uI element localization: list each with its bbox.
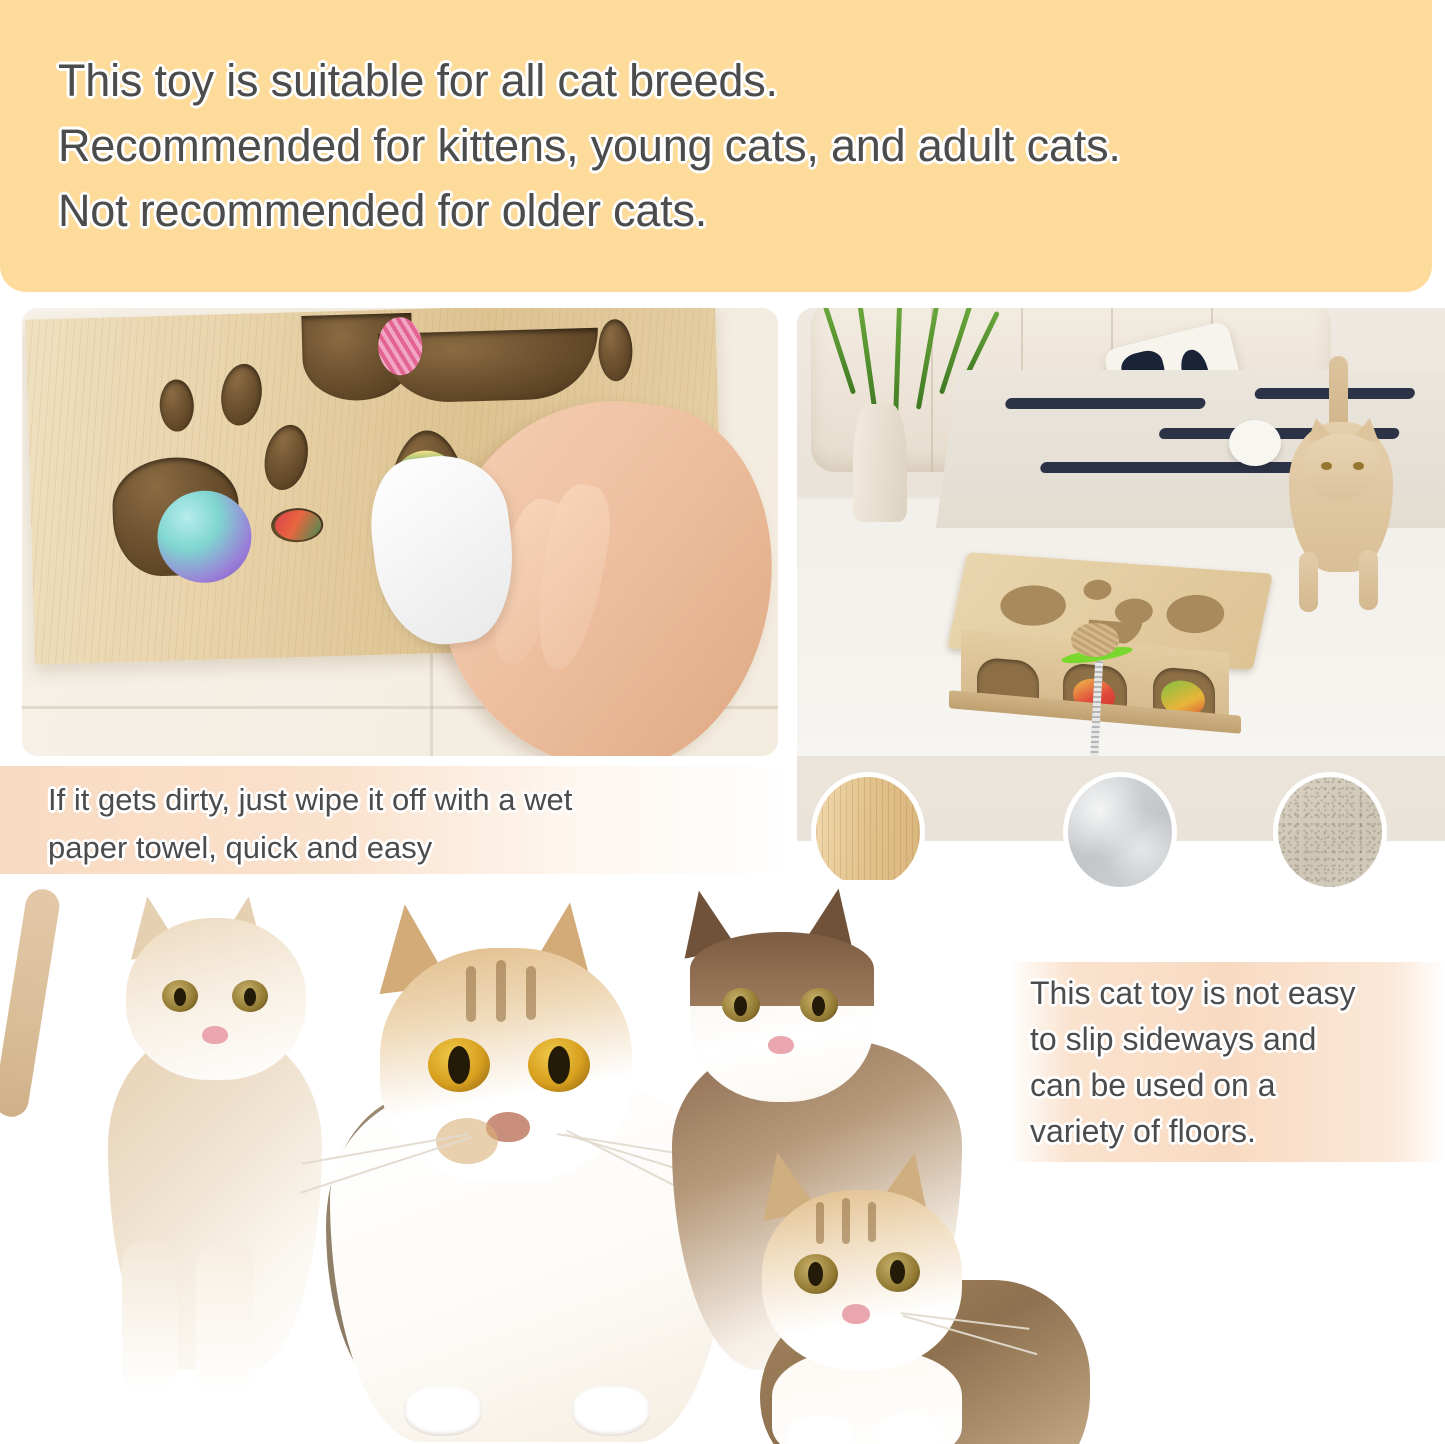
cat2-pupil-right xyxy=(548,1046,570,1084)
kitten4-forehead-stripe xyxy=(816,1202,824,1244)
floor-caption-line-4: variety of floors. xyxy=(1030,1108,1445,1154)
kitten4-forehead-stripe xyxy=(868,1202,876,1242)
kitten4-pupil-right xyxy=(890,1260,905,1284)
kitten4-paw-right xyxy=(878,1414,942,1444)
toy-box-hole xyxy=(1163,593,1228,635)
room-cat xyxy=(1277,360,1409,618)
kitten3-head-cap xyxy=(690,932,874,1006)
floor-caption: This cat toy is not easy to slip sideway… xyxy=(1008,962,1445,1162)
kitten1-pupil-right xyxy=(244,988,256,1006)
floor-seam-vertical xyxy=(430,638,433,756)
room-photo xyxy=(797,308,1445,756)
floor-vase xyxy=(853,404,907,522)
wooden-toy-box xyxy=(943,563,1281,741)
cat2-muzzle-patch xyxy=(436,1118,498,1164)
kitten1-head xyxy=(126,918,306,1080)
kitten4-paw-left xyxy=(788,1416,852,1444)
header-line-2: Recommended for kittens, young cats, and… xyxy=(58,113,1432,178)
floor-caption-line-2: to slip sideways and xyxy=(1030,1016,1445,1062)
wipe-caption-line-1: If it gets dirty, just wipe it off with … xyxy=(48,776,790,824)
cats-photo xyxy=(0,880,1090,1444)
rug-stripe xyxy=(1005,398,1207,409)
paw-toe-hole-2 xyxy=(217,361,266,428)
wipe-caption: If it gets dirty, just wipe it off with … xyxy=(0,766,790,874)
header-line-1: This toy is suitable for all cat breeds. xyxy=(58,48,1432,113)
tile-floor-swatch xyxy=(1063,772,1177,892)
cat2-paw-left xyxy=(404,1386,482,1436)
kitten3-nose xyxy=(768,1036,794,1054)
cat2-head xyxy=(380,948,632,1182)
kitten1-front-leg xyxy=(122,1240,178,1390)
header-banner: This toy is suitable for all cat breeds.… xyxy=(0,0,1432,292)
kitten4-forehead-stripe xyxy=(842,1198,850,1244)
toy-box-hole xyxy=(1082,579,1114,601)
kitten1-nose xyxy=(202,1026,228,1044)
room-cat-head xyxy=(1303,434,1381,500)
kitten4-pupil-left xyxy=(808,1262,823,1286)
kitten1-front-leg xyxy=(196,1242,254,1392)
kitten1-tail xyxy=(0,887,62,1119)
cat2-paw-right xyxy=(572,1386,650,1436)
fern-frond xyxy=(858,308,878,412)
paw-toe-hole-1 xyxy=(159,379,194,432)
carpet-floor-swatch xyxy=(1273,772,1387,892)
wipe-photo xyxy=(22,308,778,756)
far-right-oval-hole xyxy=(598,319,634,382)
header-line-3: Not recommended for older cats. xyxy=(58,178,1432,243)
cow-plush-toy xyxy=(1229,420,1281,466)
cat2-pupil-left xyxy=(448,1046,470,1084)
cat2-forehead-stripe xyxy=(496,960,506,1022)
paw-toe-hole-3 xyxy=(259,421,314,494)
toy-box-hole xyxy=(996,583,1070,628)
fern-frond xyxy=(916,308,939,410)
room-cat-eye xyxy=(1353,462,1364,470)
kitten4-nose xyxy=(842,1304,870,1324)
kitten4-head xyxy=(762,1190,962,1370)
spring-wooden-ball xyxy=(1071,623,1119,657)
wipe-caption-line-2: paper towel, quick and easy xyxy=(48,824,790,872)
room-cat-leg xyxy=(1299,552,1318,612)
floor-caption-line-3: can be used on a xyxy=(1030,1062,1445,1108)
wood-floor-swatch xyxy=(811,772,925,892)
room-cat-eye xyxy=(1321,462,1332,470)
kitten1-pupil-left xyxy=(174,988,186,1006)
floor-swatch-strip xyxy=(797,756,1445,892)
cat2-forehead-stripe xyxy=(526,966,536,1020)
fern-frond xyxy=(823,308,856,395)
room-cat-leg xyxy=(1359,550,1378,610)
cat2-forehead-stripe xyxy=(466,966,476,1022)
kitten3-pupil-left xyxy=(734,996,747,1016)
floor-caption-line-1: This cat toy is not easy xyxy=(1030,970,1445,1016)
kitten3-pupil-right xyxy=(812,996,825,1016)
